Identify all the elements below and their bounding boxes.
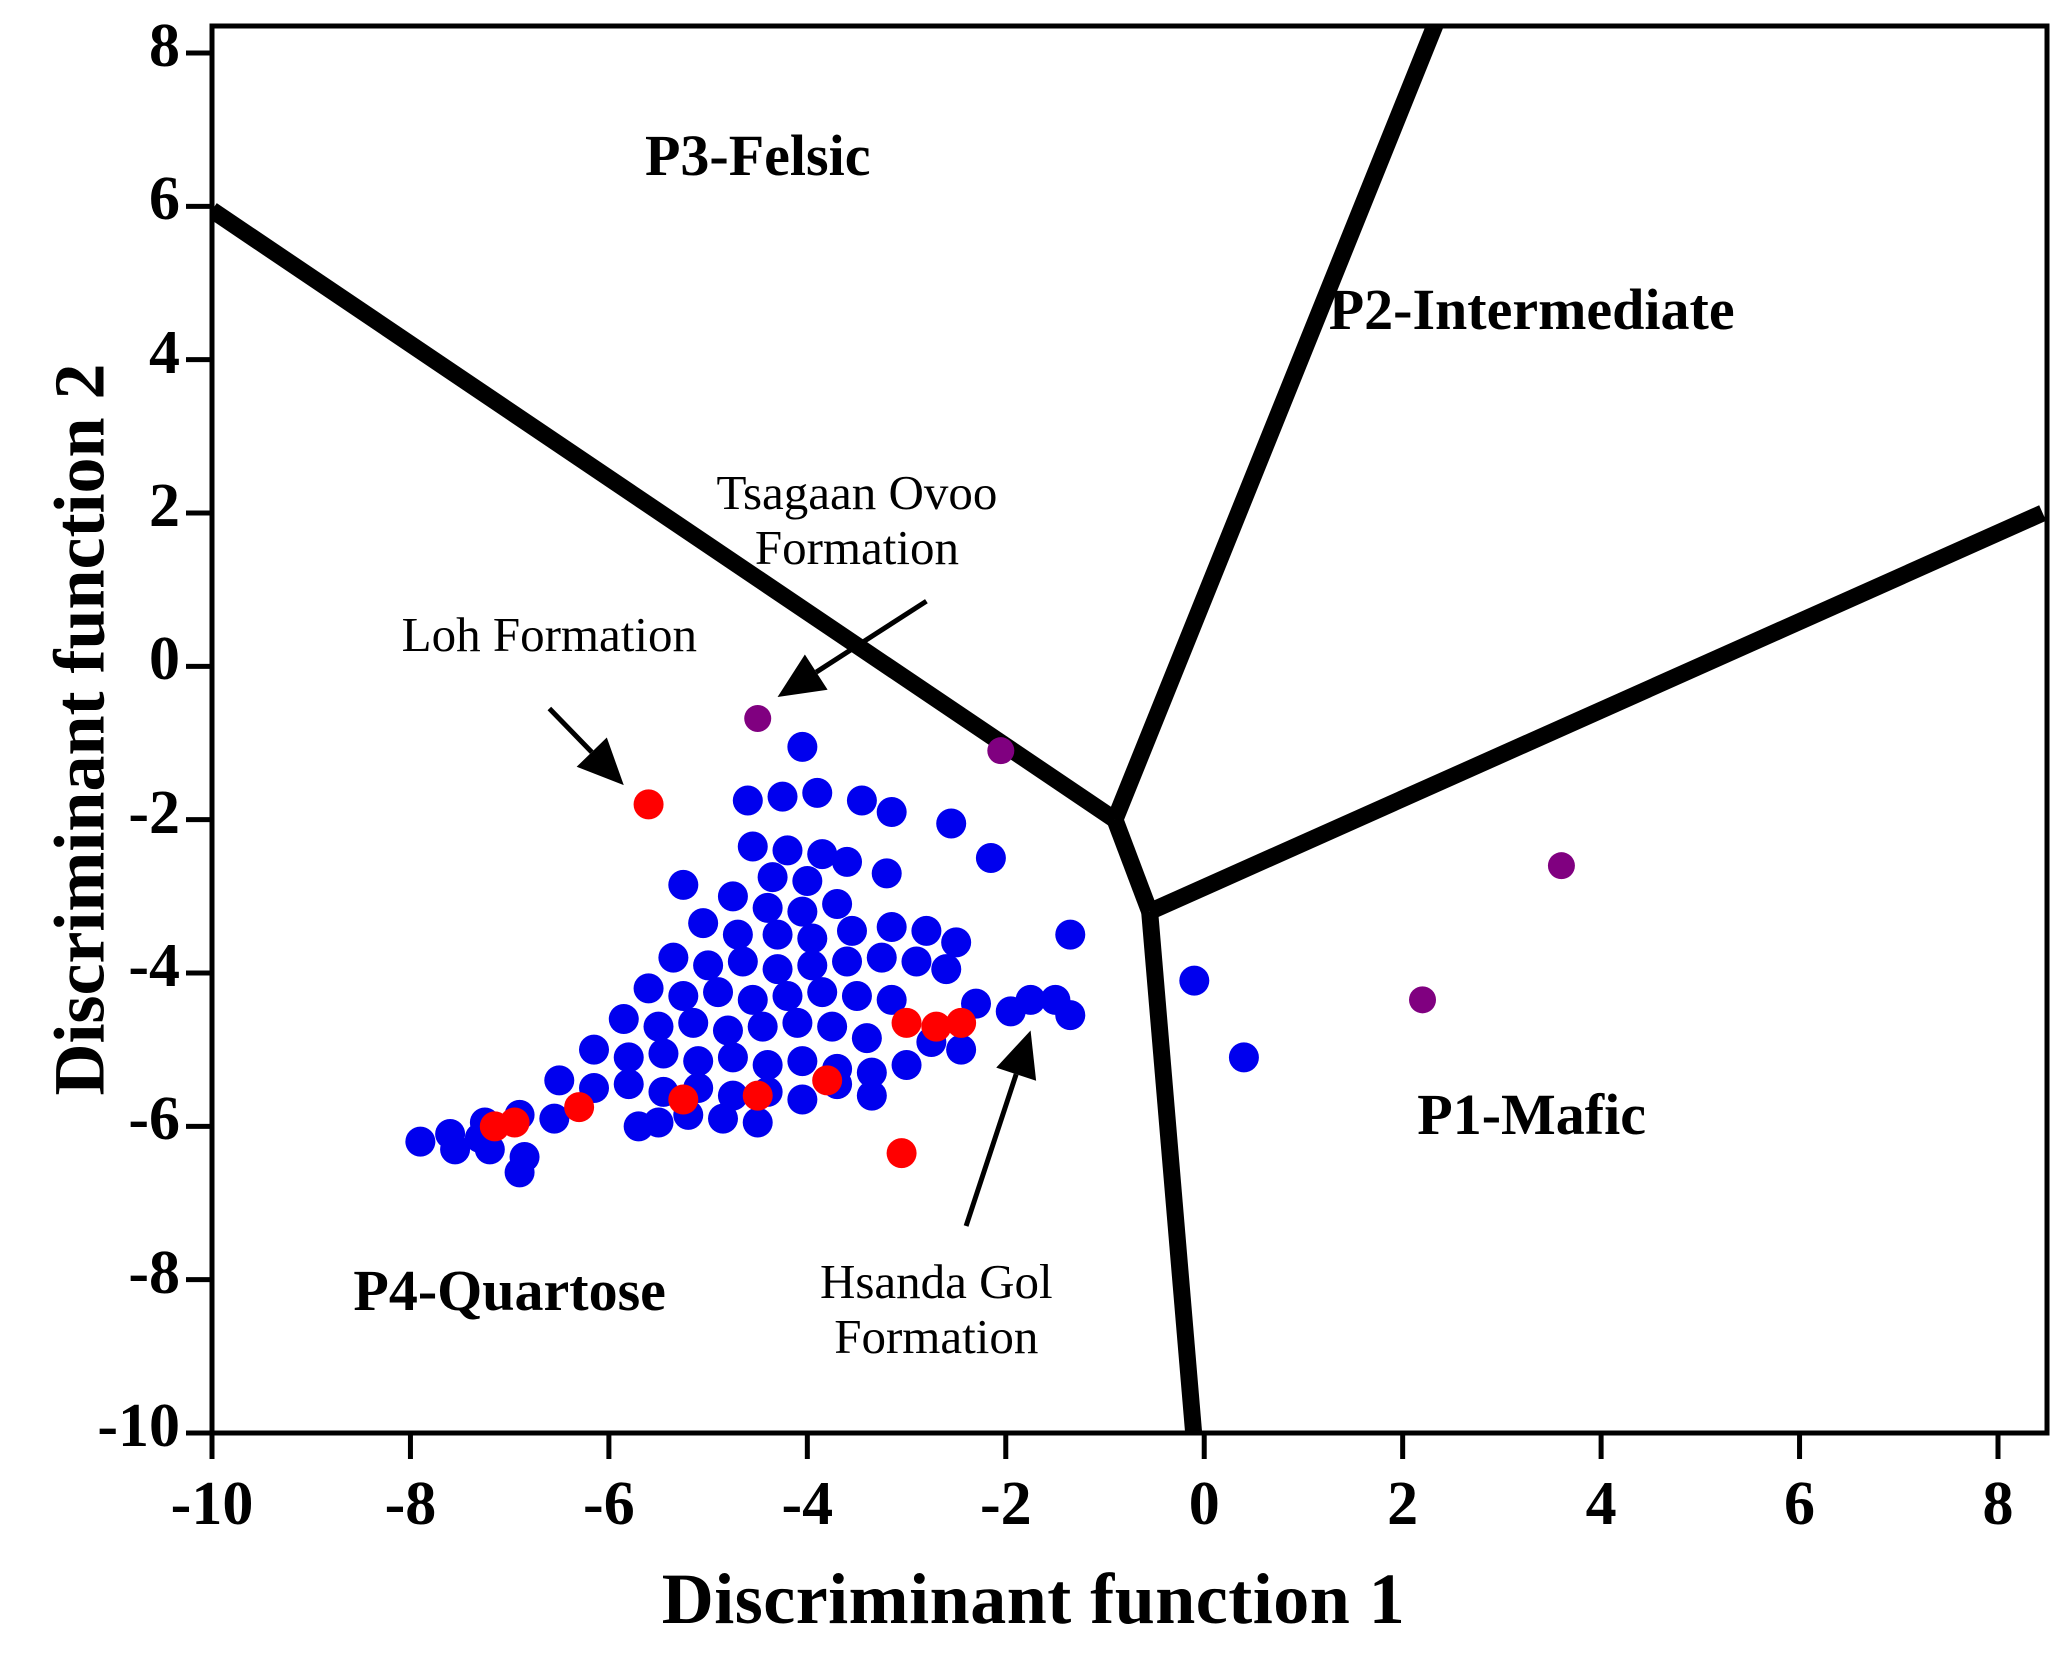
data-point xyxy=(857,1081,887,1111)
data-point xyxy=(797,924,827,954)
data-point xyxy=(787,732,817,762)
hsanda-gol-annotation-line-1: Formation xyxy=(820,1310,1053,1365)
data-point xyxy=(976,843,1006,873)
x-tick-label-3: -4 xyxy=(727,1469,887,1540)
data-point xyxy=(1548,852,1575,879)
data-point xyxy=(738,985,768,1015)
x-tick-label-6: 2 xyxy=(1323,1469,1483,1540)
data-point xyxy=(847,786,877,816)
data-point xyxy=(802,778,832,808)
plot-frame xyxy=(212,26,2047,1433)
y-axis-title: Discriminant function 2 xyxy=(39,30,122,1430)
data-point xyxy=(892,1050,922,1080)
data-point xyxy=(797,950,827,980)
data-point xyxy=(842,981,872,1011)
data-point xyxy=(887,1138,917,1168)
tsagaan-ovoo-annotation-line-0: Tsagaan Ovoo xyxy=(716,466,997,521)
data-point xyxy=(946,1008,976,1038)
data-point xyxy=(772,835,802,865)
data-point xyxy=(480,1111,510,1141)
data-point xyxy=(723,920,753,950)
x-tick-label-9: 8 xyxy=(1918,1469,2067,1540)
data-point xyxy=(683,1046,713,1076)
x-tick-label-1: -8 xyxy=(330,1469,490,1540)
x-tick-label-8: 6 xyxy=(1720,1469,1880,1540)
data-point xyxy=(1179,966,1209,996)
data-point xyxy=(931,954,961,984)
y-tick-label-8: -8 xyxy=(0,1238,180,1309)
field-label-p4-quartose: P4-Quartose xyxy=(353,1257,666,1324)
data-point xyxy=(744,705,771,732)
y-tick-label-6: -4 xyxy=(0,931,180,1002)
y-tick-label-9: -10 xyxy=(0,1391,180,1462)
data-point xyxy=(634,789,664,819)
data-point xyxy=(787,897,817,927)
data-point xyxy=(911,916,941,946)
data-point xyxy=(743,1108,773,1138)
y-tick-label-3: 2 xyxy=(0,471,180,542)
data-point xyxy=(693,950,723,980)
x-tick-label-2: -6 xyxy=(529,1469,689,1540)
loh-formation-annotation-line-0: Loh Formation xyxy=(402,608,697,663)
data-point xyxy=(782,1008,812,1038)
data-point xyxy=(658,943,688,973)
data-point xyxy=(634,973,664,1003)
data-point xyxy=(763,954,793,984)
data-point xyxy=(703,977,733,1007)
data-point xyxy=(614,1069,644,1099)
y-tick-label-4: 0 xyxy=(0,624,180,695)
data-point xyxy=(708,1104,738,1134)
tsagaan-ovoo-annotation: Tsagaan OvooFormation xyxy=(716,466,997,576)
x-tick-label-7: 4 xyxy=(1521,1469,1681,1540)
plot-canvas xyxy=(0,0,2067,1668)
data-point xyxy=(614,1042,644,1072)
y-tick-label-5: -2 xyxy=(0,778,180,849)
data-point xyxy=(668,870,698,900)
data-point xyxy=(1055,920,1085,950)
data-point xyxy=(718,1042,748,1072)
data-point xyxy=(609,1004,639,1034)
data-point xyxy=(1055,1000,1085,1030)
field-label-p2-intermediate: P2-Intermediate xyxy=(1329,276,1735,343)
data-point xyxy=(668,1085,698,1115)
data-point xyxy=(987,737,1014,764)
data-point xyxy=(644,1012,674,1042)
data-point xyxy=(892,1008,922,1038)
data-point xyxy=(877,912,907,942)
data-point xyxy=(772,981,802,1011)
data-point xyxy=(668,981,698,1011)
data-point xyxy=(768,782,798,812)
y-tick-label-2: 4 xyxy=(0,318,180,389)
data-point xyxy=(753,893,783,923)
data-point xyxy=(505,1157,535,1187)
data-point xyxy=(832,847,862,877)
data-point xyxy=(1409,986,1436,1013)
data-point xyxy=(688,908,718,938)
y-tick-label-1: 6 xyxy=(0,164,180,235)
data-point xyxy=(624,1111,654,1141)
data-point xyxy=(748,1012,778,1042)
data-point xyxy=(648,1039,678,1069)
y-tick-label-0: 8 xyxy=(0,11,180,82)
data-point xyxy=(787,1046,817,1076)
data-point xyxy=(787,1085,817,1115)
data-point xyxy=(713,1016,743,1046)
data-point xyxy=(901,947,931,977)
data-point xyxy=(832,947,862,977)
x-tick-label-0: -10 xyxy=(132,1469,292,1540)
data-point xyxy=(1229,1042,1259,1072)
data-point xyxy=(837,916,867,946)
data-point xyxy=(579,1035,609,1065)
x-tick-label-5: 0 xyxy=(1124,1469,1284,1540)
data-point xyxy=(718,881,748,911)
data-point xyxy=(763,920,793,950)
data-point xyxy=(822,889,852,919)
data-point xyxy=(544,1065,574,1095)
hsanda-gol-annotation-line-0: Hsanda Gol xyxy=(820,1255,1053,1310)
data-point xyxy=(738,832,768,862)
x-axis-title: Discriminant function 1 xyxy=(0,1558,2067,1641)
data-point xyxy=(817,1012,847,1042)
x-tick-label-4: -2 xyxy=(926,1469,1086,1540)
tsagaan-ovoo-annotation-line-1: Formation xyxy=(716,521,997,576)
data-point xyxy=(405,1127,435,1157)
data-point xyxy=(792,866,822,896)
data-point xyxy=(936,809,966,839)
data-point xyxy=(743,1081,773,1111)
y-tick-label-7: -6 xyxy=(0,1084,180,1155)
data-point xyxy=(564,1092,594,1122)
data-point xyxy=(941,927,971,957)
field-label-p3-felsic: P3-Felsic xyxy=(645,122,870,189)
data-point xyxy=(753,1050,783,1080)
loh-formation-annotation: Loh Formation xyxy=(402,608,697,663)
data-point xyxy=(733,786,763,816)
data-point xyxy=(877,797,907,827)
discriminant-function-scatter-plot: Discriminant function 1 Discriminant fun… xyxy=(0,0,2067,1668)
data-point xyxy=(852,1023,882,1053)
data-point xyxy=(946,1035,976,1065)
data-point xyxy=(872,858,902,888)
data-point xyxy=(758,862,788,892)
hsanda-gol-annotation: Hsanda GolFormation xyxy=(820,1255,1053,1365)
data-point xyxy=(807,977,837,1007)
data-point xyxy=(867,943,897,973)
field-label-p1-mafic: P1-Mafic xyxy=(1417,1081,1646,1148)
data-point xyxy=(728,947,758,977)
data-point xyxy=(812,1065,842,1095)
data-point xyxy=(678,1008,708,1038)
